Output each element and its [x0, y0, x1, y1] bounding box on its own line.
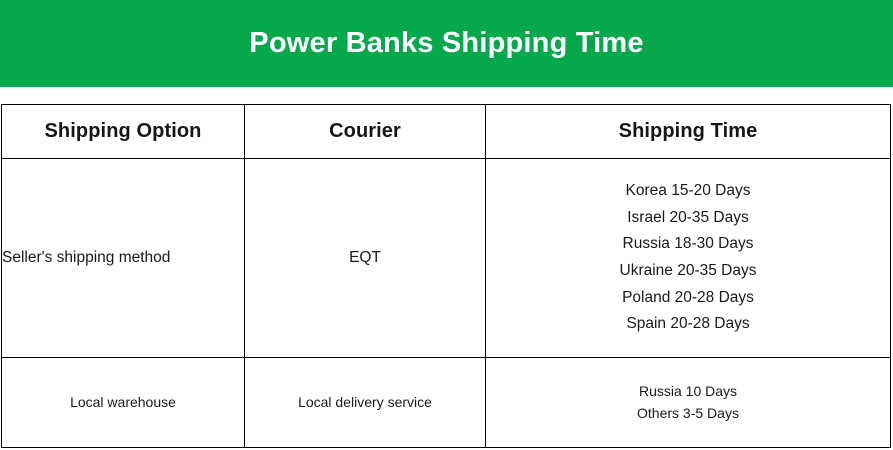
- cell-shipping-time-seller: Korea 15-20 Days Israel 20-35 Days Russi…: [486, 159, 891, 358]
- shipping-time-table: Shipping Option Courier Shipping Time Se…: [1, 104, 891, 448]
- table-header-row: Shipping Option Courier Shipping Time: [2, 105, 891, 159]
- shipping-table-container: Shipping Option Courier Shipping Time Se…: [1, 104, 890, 448]
- cell-shipping-time-local: Russia 10 Days Others 3-5 Days: [486, 357, 891, 447]
- cell-courier-eqt: EQT: [245, 159, 486, 358]
- cell-shipping-option-seller: Seller's shipping method: [2, 159, 245, 358]
- table-row: Seller's shipping method EQT Korea 15-20…: [2, 159, 891, 358]
- shipping-time-list: Russia 10 Days Others 3-5 Days: [486, 380, 890, 425]
- shipping-time-line: Poland 20-28 Days: [486, 285, 890, 312]
- cell-courier-local-delivery: Local delivery service: [245, 357, 486, 447]
- shipping-time-line: Others 3-5 Days: [486, 402, 890, 425]
- shipping-time-line: Ukraine 20-35 Days: [486, 258, 890, 285]
- table-row: Local warehouse Local delivery service R…: [2, 357, 891, 447]
- shipping-time-line: Spain 20-28 Days: [486, 311, 890, 338]
- shipping-time-line: Korea 15-20 Days: [486, 178, 890, 205]
- shipping-info-banner-page: Power Banks Shipping Time Shipping Optio…: [0, 0, 893, 450]
- cell-shipping-option-local-warehouse: Local warehouse: [2, 357, 245, 447]
- column-header-shipping-option: Shipping Option: [2, 105, 245, 159]
- shipping-time-list: Korea 15-20 Days Israel 20-35 Days Russi…: [486, 178, 890, 338]
- shipping-time-line: Israel 20-35 Days: [486, 205, 890, 232]
- shipping-time-line: Russia 18-30 Days: [486, 231, 890, 258]
- column-header-courier: Courier: [245, 105, 486, 159]
- header-banner: Power Banks Shipping Time: [0, 0, 893, 87]
- shipping-time-line: Russia 10 Days: [486, 380, 890, 403]
- banner-title: Power Banks Shipping Time: [249, 29, 643, 58]
- column-header-shipping-time: Shipping Time: [486, 105, 891, 159]
